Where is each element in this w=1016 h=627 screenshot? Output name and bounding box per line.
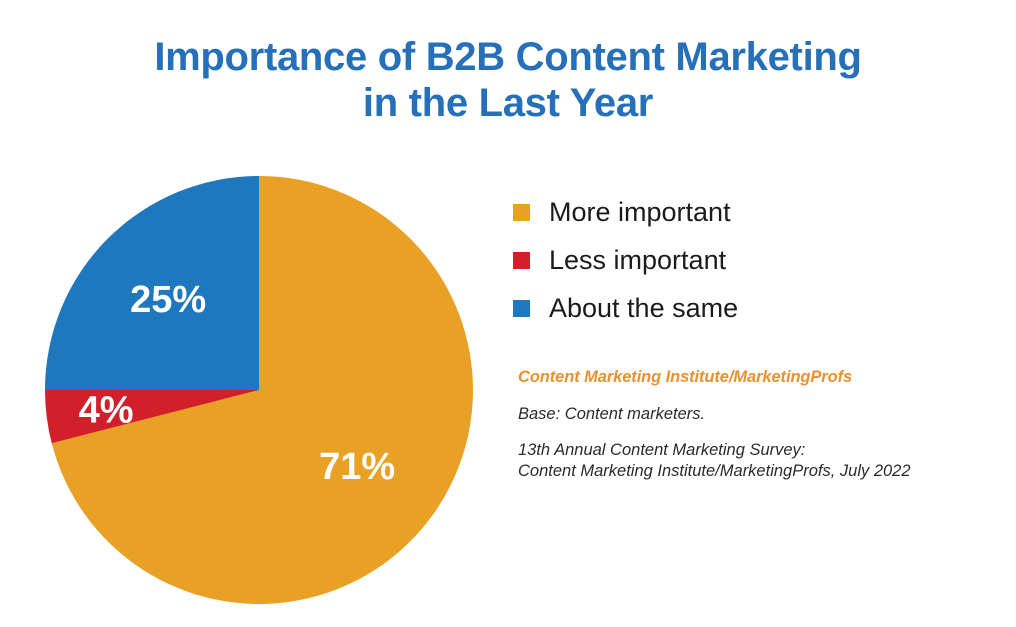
source-survey-line-1: 13th Annual Content Marketing Survey: bbox=[518, 440, 1008, 461]
source-note-block: Content Marketing Institute/MarketingPro… bbox=[518, 366, 1008, 482]
page-title: Importance of B2B Content Marketing in t… bbox=[0, 34, 1016, 126]
legend-item-more-important[interactable]: More important bbox=[513, 188, 953, 236]
square-swatch-icon bbox=[513, 300, 530, 317]
chart-legend: More important Less important About the … bbox=[513, 188, 953, 332]
legend-item-less-important[interactable]: Less important bbox=[513, 236, 953, 284]
page-title-line-2: in the Last Year bbox=[0, 80, 1016, 126]
source-survey-line-2: Content Marketing Institute/MarketingPro… bbox=[518, 461, 1008, 482]
legend-item-label: Less important bbox=[549, 245, 726, 275]
legend-item-label: About the same bbox=[549, 293, 738, 323]
source-attribution: Content Marketing Institute/MarketingPro… bbox=[518, 366, 1008, 388]
square-swatch-icon bbox=[513, 252, 530, 269]
pie-slice-value-label: 25% bbox=[130, 279, 206, 321]
legend-item-label: More important bbox=[549, 197, 731, 227]
pie-slice-value-label: 71% bbox=[319, 446, 395, 488]
source-base-note: Base: Content marketers. bbox=[518, 403, 1008, 425]
legend-item-about-the-same[interactable]: About the same bbox=[513, 284, 953, 332]
square-swatch-icon bbox=[513, 204, 530, 221]
source-survey-note: 13th Annual Content Marketing Survey: Co… bbox=[518, 440, 1008, 482]
pie-chart: 71%4%25% bbox=[45, 176, 473, 604]
page-title-line-1: Importance of B2B Content Marketing bbox=[0, 34, 1016, 80]
pie-slice-value-label: 4% bbox=[79, 389, 134, 431]
